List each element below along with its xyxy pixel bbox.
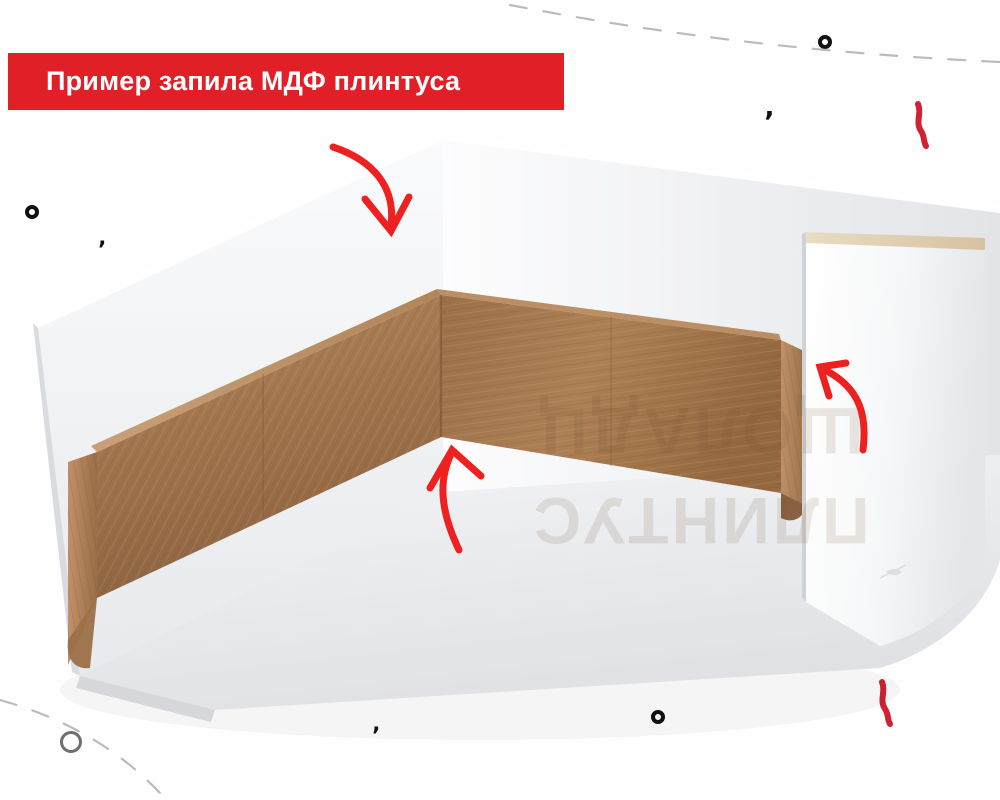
arrow-joints	[333, 147, 409, 231]
screenshot-canvas: ’ ’ ’	[0, 0, 1000, 800]
arrow-inner-corner	[430, 450, 481, 550]
arrow-end-caps	[820, 363, 864, 450]
annotation-arrows	[0, 0, 1000, 800]
